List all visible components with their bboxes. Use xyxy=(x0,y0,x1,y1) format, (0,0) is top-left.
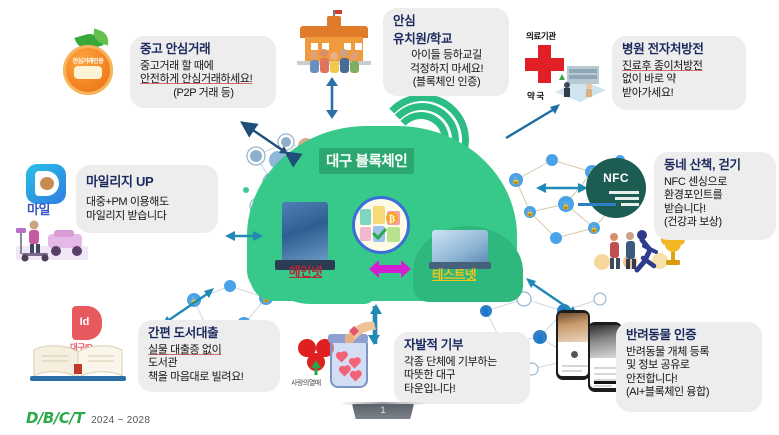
callout-title: 반려동물 인증 xyxy=(626,328,753,344)
callout-line: (AI+블록체인 융합) xyxy=(626,386,753,400)
callout-title: 마일리지 UP xyxy=(86,174,209,190)
students-crowd-icon xyxy=(307,48,363,74)
medical-institution-label: 의료기관 xyxy=(526,30,556,42)
callout-title: 간편 도서대출 xyxy=(148,326,271,342)
callout-pet[interactable]: 반려동물 인증 반려동물 개체 등록 및 정보 공유로 안전합니다! (AI+블… xyxy=(616,322,762,412)
callout-line: 대중+PM 이용해도 xyxy=(86,196,209,210)
callout-mileage[interactable]: 마일리지 UP 대중+PM 이용해도 마일리지 받습니다 xyxy=(76,165,218,233)
callout-line: (블록체인 인증) xyxy=(393,76,500,90)
svg-text:🔒: 🔒 xyxy=(526,209,535,217)
cloud-title: 대구 블록체인 xyxy=(319,148,414,174)
callout-line: 실물 대출증 없이 xyxy=(148,344,271,358)
callout-line: (P2P 거래 등) xyxy=(140,87,267,101)
callout-line: 받습니다! xyxy=(664,203,767,217)
callout-title: 동네 산책, 걷기 xyxy=(664,158,767,174)
mainnet-label: 메인넷 xyxy=(289,261,322,280)
callout-title: 병원 전자처방전 xyxy=(622,42,737,58)
callout-line: 받아가세요! xyxy=(622,87,737,101)
callout-line: 걱정하지 마세요! xyxy=(393,63,500,77)
tray-number: 1 xyxy=(352,405,414,415)
callout-donation[interactable]: 자발적 기부 각종 단체에 기부하는 따뜻한 대구 타운입니다! xyxy=(394,332,530,404)
callout-line: 각종 단체에 기부하는 xyxy=(404,356,521,370)
callout-line: NFC 센싱으로 xyxy=(664,176,767,190)
callout-title: 중고 안심거래 xyxy=(140,42,267,58)
runner-icon xyxy=(630,228,660,272)
project-years: 2024 ~ 2028 xyxy=(91,415,150,426)
fruit-of-love-caption: 사랑의열매 xyxy=(291,378,321,388)
callout-line: 타운입니다! xyxy=(404,383,521,397)
callout-line: 환경포인트를 xyxy=(664,189,767,203)
svg-text:🔒: 🔒 xyxy=(562,202,571,210)
callout-library[interactable]: 간편 도서대출 실물 대출증 없이 도서관 책을 마음대로 빌려요! xyxy=(138,320,280,392)
callout-line: 마일리지 받습니다 xyxy=(86,210,209,224)
nfc-underline-decor xyxy=(578,203,616,206)
callout-line: 안전하게 안심거래하세요! xyxy=(140,73,267,87)
arrow-used-goods xyxy=(238,118,294,160)
arrow-nfc xyxy=(534,180,590,196)
callout-line: 반려동물 개체 등록 xyxy=(626,346,753,360)
pet-phone-color xyxy=(556,310,590,380)
nfc-icon: NFC xyxy=(586,158,646,218)
callout-line: 없이 바로 약 xyxy=(622,73,737,87)
callout-line: 중고거래 할 때에 xyxy=(140,60,267,74)
arrow-mileage xyxy=(224,228,264,244)
dbct-logo: D/B/C/T xyxy=(26,409,84,427)
callout-title: 안심 xyxy=(393,14,500,30)
daegu-id-card-icon: Id xyxy=(72,306,102,340)
callout-line: 안전합니다! xyxy=(626,373,753,387)
callout-used-goods[interactable]: 중고 안심거래 중고거래 할 때에 안전하게 안심거래하세요! (P2P 거래 … xyxy=(130,36,276,108)
infographic-canvas: 🔒🔒 🔒🔒 🔒🔒 🔒🔒 🔒🔒 xyxy=(0,0,779,435)
testnet-building-icon xyxy=(432,230,488,264)
blockchain-emblem-icon: ₿ xyxy=(352,196,410,254)
pharmacy-counter-icon xyxy=(551,58,609,104)
mainnet-testnet-exchange-arrow xyxy=(367,258,413,280)
mileage-app-icon xyxy=(26,164,66,204)
callout-line: 책을 마음대로 빌려요! xyxy=(148,371,271,385)
callout-hospital[interactable]: 병원 전자처방전 진료후 종이처방전 없이 바로 약 받아가세요! xyxy=(612,36,746,110)
arrow-school xyxy=(325,76,339,120)
arrow-hospital xyxy=(500,100,564,144)
callout-line: 및 정보 공유로 xyxy=(626,359,753,373)
callout-title: 자발적 기부 xyxy=(404,338,521,354)
callout-line: 따뜻한 대구 xyxy=(404,369,521,383)
callout-line: (건강과 보상) xyxy=(664,216,767,230)
svg-text:👤: 👤 xyxy=(482,307,491,316)
footer: D/B/C/T 2024 ~ 2028 xyxy=(26,409,150,427)
testnet-label: 테스트넷 xyxy=(432,264,476,283)
open-book-icon xyxy=(30,342,126,384)
callout-title-2: 유치원/학교 xyxy=(393,32,500,48)
callout-line: 도서관 xyxy=(148,357,271,371)
callout-line: 진료후 종이처방전 xyxy=(622,60,737,74)
callout-line: 아이들 등하교길 xyxy=(393,49,500,63)
svg-text:🔒: 🔒 xyxy=(512,177,521,185)
mainnet-building-icon xyxy=(282,202,328,264)
svg-text:₿: ₿ xyxy=(389,214,395,225)
pharmacy-label: 약 국 xyxy=(527,90,544,102)
donating-hand-icon xyxy=(338,318,378,348)
callout-school[interactable]: 안심 유치원/학교 아이들 등하교길 걱정하지 마세요! (블록체인 인증) xyxy=(383,8,509,96)
svg-text:👤: 👤 xyxy=(536,334,545,343)
safe-deal-seal-icon: 안심거래인증 xyxy=(63,45,113,95)
callout-nfc-walk[interactable]: 동네 산책, 걷기 NFC 센싱으로 환경포인트를 받습니다! (건강과 보상) xyxy=(654,152,776,240)
